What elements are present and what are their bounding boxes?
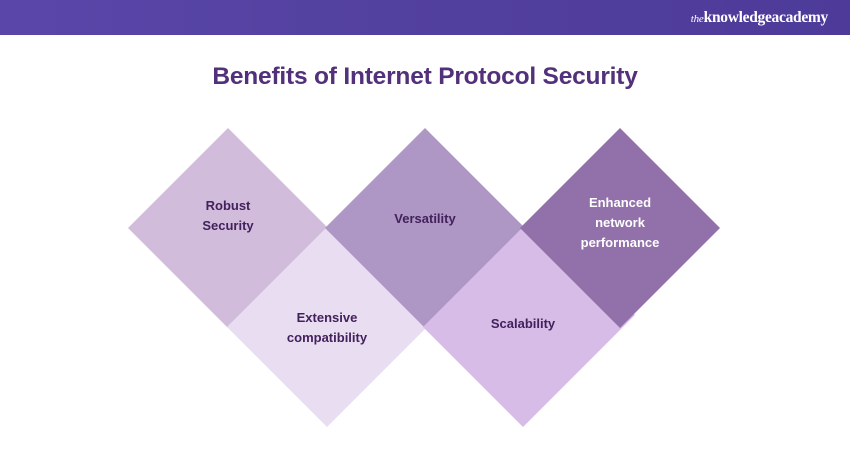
diamond-label-1-line-2: Security — [202, 218, 254, 233]
benefits-diamond-diagram: Robust Security Extensive compatibility … — [0, 110, 850, 430]
diamond-label-2-line-2: compatibility — [287, 330, 368, 345]
diamond-label-5-line-2: network — [595, 215, 646, 230]
logo-main-text: knowledgeacademy — [704, 9, 828, 26]
header-divider — [0, 35, 850, 38]
diamond-label-3-line-1: Versatility — [394, 211, 456, 226]
diamond-label-5-line-1: Enhanced — [589, 195, 651, 210]
diamond-label-1-line-1: Robust — [206, 198, 251, 213]
logo-the-text: the — [691, 13, 704, 25]
diamond-label-4-line-1: Scalability — [491, 316, 556, 331]
diamond-label-5-line-3: performance — [581, 235, 660, 250]
infographic-page: theknowledgeacademy Benefits of Internet… — [0, 0, 850, 450]
knowledge-academy-logo: theknowledgeacademy — [691, 10, 850, 26]
brand-header: theknowledgeacademy — [0, 0, 850, 35]
page-title: Benefits of Internet Protocol Security — [0, 63, 850, 91]
diamond-label-2-line-1: Extensive — [297, 310, 358, 325]
